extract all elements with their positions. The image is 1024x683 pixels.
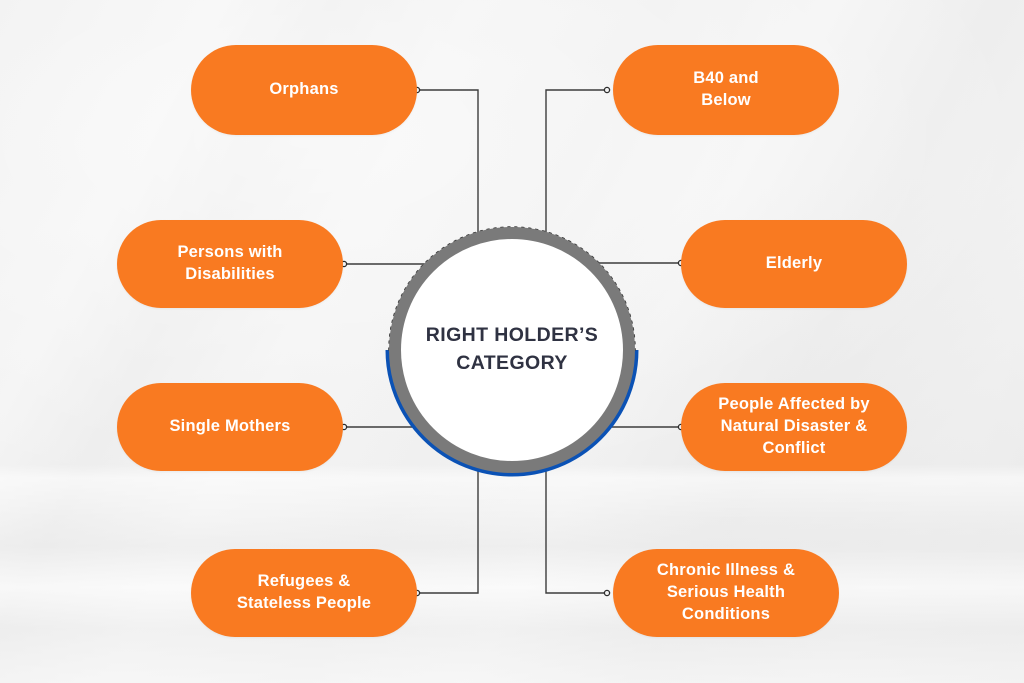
node-refugees-line-1: Refugees & — [237, 571, 371, 593]
hub-ring — [395, 233, 629, 467]
node-single-mothers[interactable]: Single Mothers — [117, 383, 343, 471]
node-refugees-line-2: Stateless People — [237, 593, 371, 615]
node-b40-and-below[interactable]: B40 and Below — [613, 45, 839, 135]
connector-dot-b40-and-below — [604, 87, 609, 92]
node-people-affected-line-2: Natural Disaster & — [718, 416, 870, 438]
node-people-affected-by-natural-disaster-and-conflict[interactable]: People Affected by Natural Disaster & Co… — [681, 383, 907, 471]
node-b40-and-below-label: B40 and Below — [693, 68, 759, 112]
node-people-affected-line-3: Conflict — [718, 438, 870, 460]
node-people-affected-label: People Affected by Natural Disaster & Co… — [718, 394, 870, 459]
node-elderly[interactable]: Elderly — [681, 220, 907, 308]
node-chronic-illness-line-2: Serious Health — [657, 582, 795, 604]
node-b40-and-below-line-1: B40 and — [693, 68, 759, 90]
node-orphans-label: Orphans — [269, 79, 338, 101]
node-refugees-label: Refugees & Stateless People — [237, 571, 371, 615]
node-persons-with-disabilities-line-1: Persons with — [177, 242, 282, 264]
node-elderly-label: Elderly — [766, 253, 822, 275]
node-refugees-and-stateless-people[interactable]: Refugees & Stateless People — [191, 549, 417, 637]
node-single-mothers-line-1: Single Mothers — [169, 416, 290, 438]
connector-dot-chronic-illness — [604, 590, 609, 595]
node-persons-with-disabilities[interactable]: Persons with Disabilities — [117, 220, 343, 308]
node-persons-with-disabilities-line-2: Disabilities — [177, 264, 282, 286]
node-elderly-line-1: Elderly — [766, 253, 822, 275]
node-orphans-line-1: Orphans — [269, 79, 338, 101]
diagram-canvas: RIGHT HOLDER’S CATEGORY Orphans B40 and … — [0, 0, 1024, 683]
node-persons-with-disabilities-label: Persons with Disabilities — [177, 242, 282, 286]
node-single-mothers-label: Single Mothers — [169, 416, 290, 438]
node-people-affected-line-1: People Affected by — [718, 394, 870, 416]
node-b40-and-below-line-2: Below — [693, 90, 759, 112]
node-chronic-illness-label: Chronic Illness & Serious Health Conditi… — [657, 560, 795, 625]
node-orphans[interactable]: Orphans — [191, 45, 417, 135]
node-chronic-illness-line-1: Chronic Illness & — [657, 560, 795, 582]
node-chronic-illness-line-3: Conditions — [657, 604, 795, 626]
center-hub: RIGHT HOLDER’S CATEGORY — [368, 206, 656, 494]
node-chronic-illness-and-serious-health-conditions[interactable]: Chronic Illness & Serious Health Conditi… — [613, 549, 839, 637]
